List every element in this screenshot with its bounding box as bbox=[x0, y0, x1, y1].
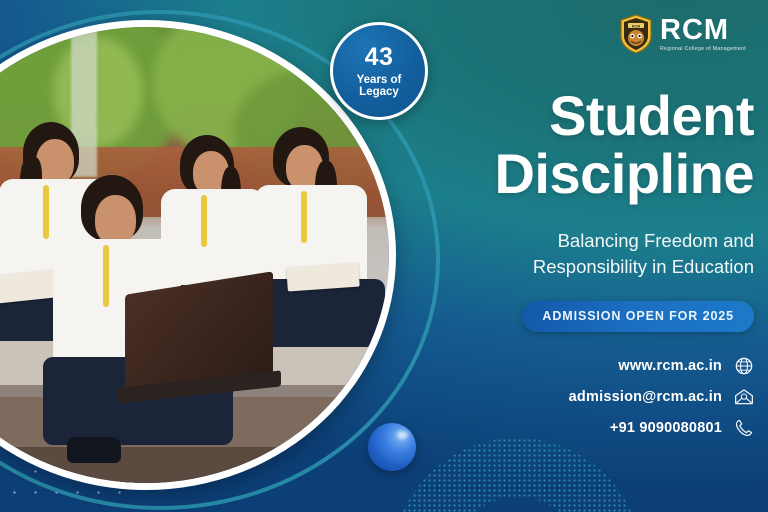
student-photo bbox=[0, 27, 389, 483]
contact-email[interactable]: admission@rcm.ac.in bbox=[569, 387, 754, 407]
shield-crest-icon: RCM bbox=[619, 14, 653, 54]
sphere-decoration bbox=[368, 423, 416, 471]
logo-name: RCM bbox=[660, 16, 746, 45]
legacy-badge-number: 43 bbox=[365, 44, 394, 70]
legacy-badge-text: Years of Legacy bbox=[357, 74, 402, 98]
title-line-2: Discipline bbox=[462, 146, 754, 202]
hero-content: Student Discipline Balancing Freedom and… bbox=[462, 88, 754, 438]
title-line-1: Student bbox=[549, 84, 754, 147]
envelope-icon bbox=[734, 387, 754, 407]
globe-icon bbox=[734, 356, 754, 376]
contact-list: www.rcm.ac.in admission@rcm.ac.in bbox=[462, 356, 754, 438]
subtitle-line-1: Balancing Freedom and bbox=[462, 228, 754, 254]
hero-subtitle: Balancing Freedom and Responsibility in … bbox=[462, 228, 754, 279]
halftone-ring-decoration-2 bbox=[392, 438, 642, 512]
phone-icon bbox=[734, 418, 754, 438]
rcm-logo[interactable]: RCM RCM Regional College of Management bbox=[619, 14, 746, 54]
subtitle-line-2: Responsibility in Education bbox=[462, 254, 754, 280]
legacy-badge-line1: Years of bbox=[357, 74, 402, 86]
promotional-banner: 43 Years of Legacy RCM RCM Regional Coll… bbox=[0, 0, 768, 512]
contact-email-text: admission@rcm.ac.in bbox=[569, 389, 722, 405]
contact-phone[interactable]: +91 9090080801 bbox=[610, 418, 754, 438]
contact-website-text: www.rcm.ac.in bbox=[618, 358, 722, 374]
contact-phone-text: +91 9090080801 bbox=[610, 420, 722, 436]
svg-text:RCM: RCM bbox=[632, 24, 640, 28]
page-title: Student Discipline bbox=[462, 88, 754, 202]
legacy-badge: 43 Years of Legacy bbox=[330, 22, 428, 120]
legacy-badge-line2: Legacy bbox=[357, 86, 402, 98]
admission-cta-button[interactable]: ADMISSION OPEN FOR 2025 bbox=[522, 301, 754, 332]
logo-tagline: Regional College of Management bbox=[660, 47, 746, 52]
logo-text-block: RCM Regional College of Management bbox=[660, 16, 746, 52]
contact-website[interactable]: www.rcm.ac.in bbox=[618, 356, 754, 376]
